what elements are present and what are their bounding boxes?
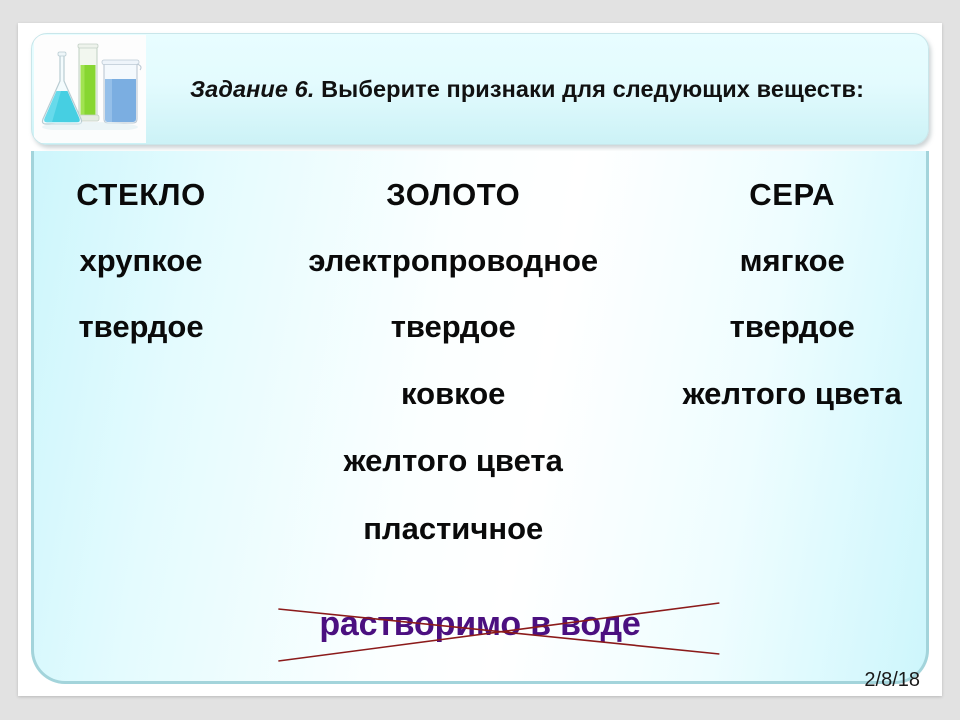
- table-row: пластичное: [34, 511, 926, 547]
- slide: Задание 6. Выберите признаки для следующ…: [18, 23, 942, 696]
- date-stamp: 2/8/18: [864, 669, 920, 692]
- cell-gold-3: ковкое: [248, 376, 658, 412]
- crossed-out-answer-text: растворимо в воде: [34, 605, 926, 644]
- crossed-out-answer: растворимо в воде: [34, 591, 926, 681]
- task-label: Задание 6.: [190, 76, 315, 102]
- column-header-glass: СТЕКЛО: [34, 177, 248, 213]
- table-row: желтого цвета: [34, 443, 926, 479]
- chemistry-glassware-icon: [34, 35, 146, 143]
- cell-sulfur-2: твердое: [658, 309, 926, 345]
- header-card: Задание 6. Выберите признаки для следующ…: [31, 33, 929, 145]
- table-row: ковкое желтого цвета: [34, 376, 926, 412]
- cell-glass-2: твердое: [34, 309, 248, 345]
- cell-glass-1: хрупкое: [34, 243, 248, 279]
- column-header-gold: ЗОЛОТО: [248, 177, 658, 213]
- cell-sulfur-1: мягкое: [658, 243, 926, 279]
- cell-gold-2: твердое: [248, 309, 658, 345]
- table-row: твердое твердое твердое: [34, 309, 926, 345]
- task-title-text: Выберите признаки для следующих веществ:: [314, 76, 864, 102]
- table-row: хрупкое электропроводное мягкое: [34, 243, 926, 279]
- table-header-row: СТЕКЛО ЗОЛОТО СЕРА: [34, 177, 926, 213]
- cell-gold-4: желтого цвета: [248, 443, 658, 479]
- page-title: Задание 6. Выберите признаки для следующ…: [146, 74, 928, 105]
- content-card: СТЕКЛО ЗОЛОТО СЕРА хрупкое электропровод…: [31, 151, 929, 684]
- cell-sulfur-3: желтого цвета: [658, 376, 926, 412]
- column-header-sulfur: СЕРА: [658, 177, 926, 213]
- properties-table: СТЕКЛО ЗОЛОТО СЕРА хрупкое электропровод…: [34, 151, 926, 681]
- cell-gold-5: пластичное: [248, 511, 658, 547]
- cell-gold-1: электропроводное: [248, 243, 658, 279]
